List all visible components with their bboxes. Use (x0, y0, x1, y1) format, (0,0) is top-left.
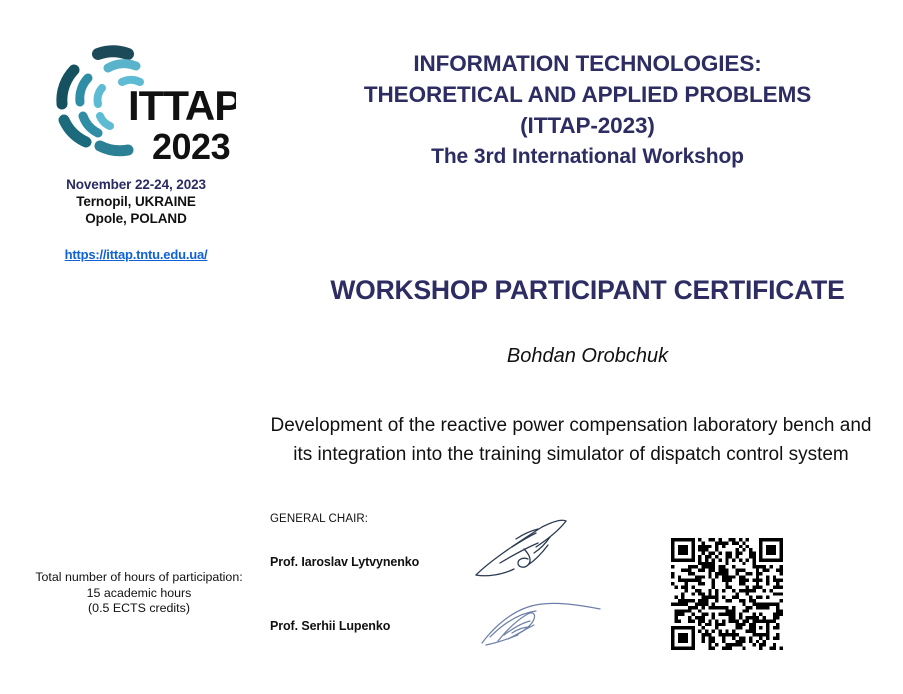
participant-name: Bohdan Orobchuk (272, 345, 903, 368)
conference-header-title: INFORMATION TECHNOLOGIES: THEORETICAL AN… (272, 48, 903, 172)
hours-line-1: Total number of hours of participation: (14, 570, 264, 586)
paper-title: Development of the reactive power compen… (262, 411, 880, 469)
ittap-logo-mark: ITTAP 2023 (36, 38, 236, 163)
header-line-1: INFORMATION TECHNOLOGIES: (272, 48, 903, 79)
qr-code-canvas (671, 538, 783, 650)
signature-ink-icon (470, 517, 580, 587)
conference-logo: ITTAP 2023 (0, 38, 272, 163)
signature-row: Prof. Serhii Lupenko (270, 619, 630, 665)
signature-row: Prof. Iaroslav Lytvynenko (270, 555, 630, 601)
header-line-3: (ITTAP-2023) (272, 110, 903, 141)
signatory-name: Prof. Serhii Lupenko (270, 619, 390, 633)
event-date: November 22-24, 2023 (0, 176, 272, 193)
hours-line-3: (0.5 ECTS credits) (14, 601, 264, 617)
header-line-2: THEORETICAL AND APPLIED PROBLEMS (272, 79, 903, 110)
svg-text:2023: 2023 (152, 126, 230, 163)
signatory-name: Prof. Iaroslav Lytvynenko (270, 555, 419, 569)
certificate-page: ITTAP 2023 November 22-24, 2023 Ternopil… (0, 0, 903, 694)
header-line-4: The 3rd International Workshop (272, 141, 903, 172)
participation-hours: Total number of hours of participation: … (14, 570, 264, 617)
general-chair-label: GENERAL CHAIR: (270, 513, 630, 525)
conference-website-link[interactable]: https://ittap.tntu.edu.ua/ (65, 246, 208, 263)
signature-ink-icon (480, 597, 610, 657)
svg-text:ITTAP: ITTAP (128, 82, 236, 129)
qr-code[interactable] (671, 538, 783, 650)
ittap-logo-icon: ITTAP 2023 (36, 38, 236, 163)
signature-block: GENERAL CHAIR: Prof. Iaroslav Lytvynenko (270, 513, 630, 665)
certificate-title: WORKSHOP PARTICIPANT CERTIFICATE (272, 275, 903, 306)
hours-line-2: 15 academic hours (14, 586, 264, 602)
event-details: November 22-24, 2023 Ternopil, UKRAINE O… (0, 176, 272, 263)
event-city-secondary: Opole, POLAND (0, 210, 272, 227)
event-city-primary: Ternopil, UKRAINE (0, 193, 272, 210)
